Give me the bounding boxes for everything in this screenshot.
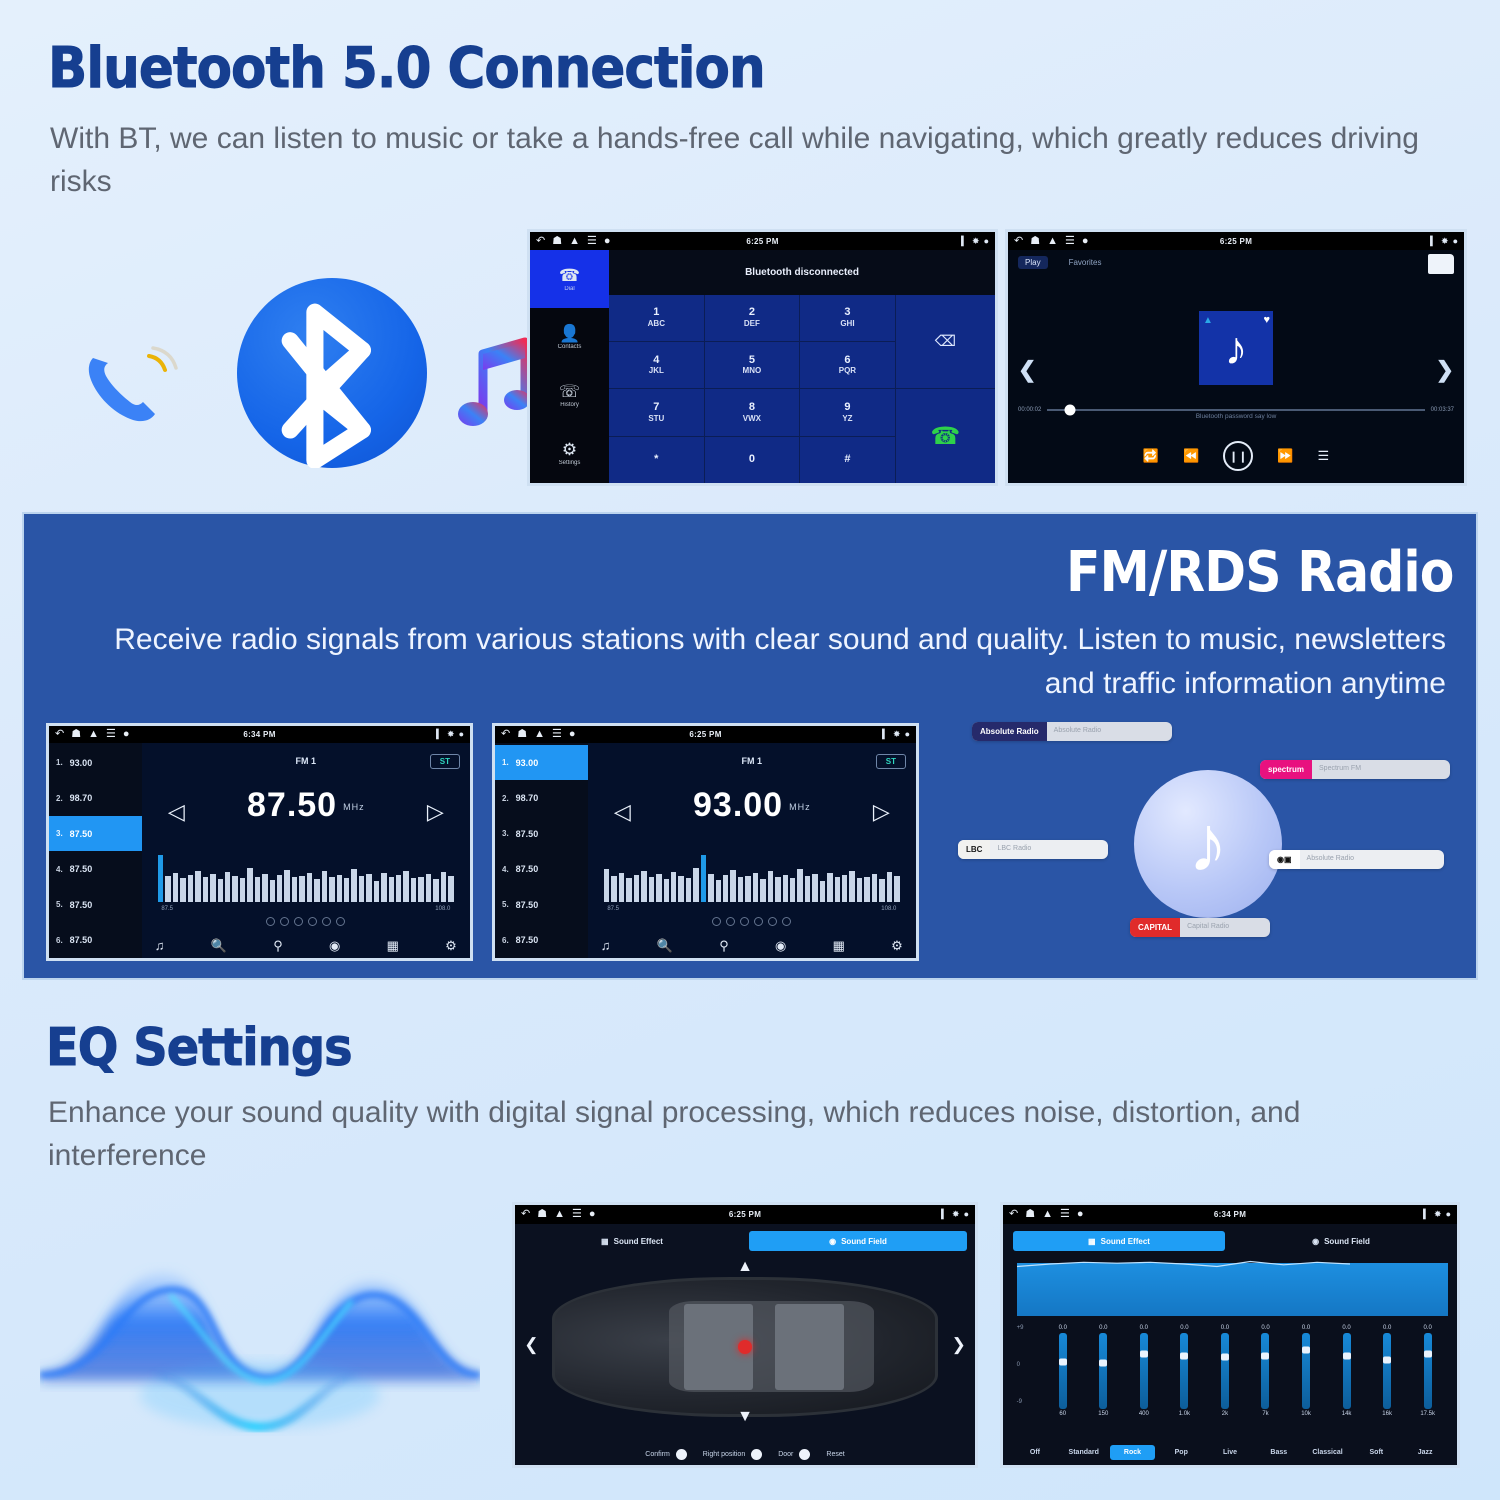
key-star[interactable]: *	[609, 437, 704, 483]
key-8[interactable]: 8VWX	[705, 389, 800, 435]
eq-band-track[interactable]	[1180, 1333, 1188, 1409]
presets-icon[interactable]: ▦	[833, 938, 845, 954]
station-logo-mark: spectrum	[1260, 760, 1312, 779]
preset-index: 1.	[56, 758, 63, 767]
frequency-tick	[299, 876, 304, 902]
key-5[interactable]: 5MNO	[705, 342, 800, 388]
preset-item[interactable]: 4.87.50	[495, 851, 588, 887]
eq-visualizer	[1017, 1263, 1448, 1316]
playback-controls[interactable]: 🔁 ⏪ ❙❙ ⏩ ☰	[1008, 441, 1464, 471]
frequency-tick	[738, 877, 743, 902]
radio-screen-2[interactable]: ↶ ☗ ▲ ☰ ● 6:25 PM ▍ ✸ ● 1.93.00 2.98.70 …	[492, 723, 919, 961]
bluetooth-section-title: Bluetooth 5.0 Connection	[48, 36, 765, 101]
preset-item[interactable]: 2.98.70	[495, 780, 588, 816]
preset-index: 2.	[502, 794, 509, 803]
sound-wave-graphic	[40, 1235, 480, 1460]
eq-band-frequency: 1.0k	[1179, 1411, 1190, 1417]
frequency-tick	[396, 875, 401, 902]
preset-item[interactable]: 5.87.50	[495, 887, 588, 923]
music-tabs[interactable]: Play Favorites	[1018, 256, 1108, 269]
eq-band[interactable]: 0.010k	[1286, 1325, 1327, 1417]
frequency-tick	[232, 876, 237, 902]
eq-preset-live[interactable]: Live	[1207, 1445, 1253, 1460]
frequency-tick	[359, 876, 364, 902]
tune-up-button[interactable]: ▷	[427, 799, 444, 825]
preset-item[interactable]: 3.87.50	[49, 816, 142, 852]
frequency-tick	[864, 877, 869, 903]
sidebar-item-contacts[interactable]: 👤 Contacts	[530, 308, 609, 366]
frequency-tick	[381, 873, 386, 902]
frequency-tick	[604, 869, 609, 902]
station-logo-mark: Absolute Radio	[972, 722, 1047, 741]
frequency-tick	[716, 880, 721, 902]
eq-preset-classical[interactable]: Classical	[1305, 1445, 1351, 1460]
page-dot[interactable]	[336, 917, 345, 926]
frequency-tick	[820, 881, 825, 902]
page-dot[interactable]	[266, 917, 275, 926]
eq-preset-soft[interactable]: Soft	[1353, 1445, 1399, 1460]
move-left-button[interactable]: ❮	[524, 1335, 538, 1355]
eq-band-knob[interactable]	[1140, 1351, 1148, 1358]
key-number: *	[654, 454, 658, 466]
frequency-tick	[426, 874, 431, 902]
eq-band-knob[interactable]	[1302, 1346, 1310, 1353]
eq-preset-bass[interactable]: Bass	[1256, 1445, 1302, 1460]
gear-icon[interactable]: ⚙	[891, 938, 903, 954]
eq-band-value: 0.0	[1180, 1325, 1188, 1331]
preset-index: 2.	[56, 794, 63, 803]
preset-item[interactable]: 1.93.00	[495, 745, 588, 781]
station-chip-capital: CAPITAL Capital Radio	[1130, 918, 1270, 937]
page-dot[interactable]	[294, 917, 303, 926]
option-door[interactable]: Door	[778, 1449, 810, 1460]
eq-band[interactable]: 0.07k	[1245, 1325, 1286, 1417]
station-chip-lbc: LBC LBC Radio	[958, 840, 1108, 859]
frequency-tick	[634, 875, 639, 902]
frequency-tick	[351, 869, 356, 902]
key-number: 8	[749, 402, 755, 414]
phone-icon: ☎	[559, 267, 580, 284]
preset-item[interactable]: 5.87.50	[49, 887, 142, 923]
frequency-tick	[433, 879, 438, 902]
eq-band-knob[interactable]	[1383, 1357, 1391, 1364]
frequency-tick	[611, 876, 616, 902]
frequency-tick	[180, 878, 185, 902]
preset-index: 5.	[502, 900, 509, 909]
eq-band-knob[interactable]	[1343, 1352, 1351, 1359]
key-hash[interactable]: #	[800, 437, 895, 483]
eq-band[interactable]: 0.017.5k	[1407, 1325, 1448, 1417]
frequency-tick	[173, 873, 178, 902]
preset-item[interactable]: 1.93.00	[49, 745, 142, 781]
station-chip-spectrum: spectrum Spectrum FM	[1260, 760, 1450, 779]
frequency-tick	[247, 868, 252, 902]
preset-list[interactable]: 1.93.00 2.98.70 3.87.50 4.87.50 5.87.50 …	[49, 743, 142, 958]
auto-scan-icon[interactable]: ⚲	[273, 938, 283, 954]
playlist-icon[interactable]: ☰	[1317, 448, 1329, 464]
radio-band-label: FM 1	[588, 756, 916, 766]
status-bar: ↶ ☗ ▲ ☰ ● 6:25 PM ▍ ✸ ●	[495, 726, 916, 743]
page-dot[interactable]	[754, 917, 763, 926]
page-dot[interactable]	[280, 917, 289, 926]
preset-frequency: 87.50	[70, 900, 93, 910]
page-dot[interactable]	[726, 917, 735, 926]
preset-index: 3.	[56, 829, 63, 838]
eq-band-knob[interactable]	[1424, 1351, 1432, 1358]
sound-field-screen[interactable]: ↶ ☗ ▲ ☰ ● 6:25 PM ▍ ✸ ● ▦ Sound Effect ◉	[512, 1202, 978, 1468]
reset-button[interactable]: Reset	[826, 1451, 844, 1458]
frequency-tick	[686, 878, 691, 902]
preset-frequency: 87.50	[70, 829, 93, 839]
seat-rear-left	[775, 1304, 843, 1349]
preset-item[interactable]: 3.87.50	[495, 816, 588, 852]
key-4[interactable]: 4JKL	[609, 342, 704, 388]
eq-band-frequency: 7k	[1262, 1411, 1268, 1417]
eq-band-value: 0.0	[1302, 1325, 1310, 1331]
car-top-view[interactable]	[552, 1277, 938, 1417]
status-bar: ↶ ☗ ▲ ☰ ● 6:25 PM ▍ ✸ ●	[515, 1205, 975, 1224]
eq-band-knob[interactable]	[1099, 1360, 1107, 1367]
radio-toolbar[interactable]: ♫ 🔍 ⚲ ◉ ▦ ⚙	[601, 938, 903, 954]
current-frequency: 87.50MHz	[142, 786, 470, 825]
eq-band[interactable]: 0.0150	[1083, 1325, 1124, 1417]
eq-band-track[interactable]	[1059, 1333, 1067, 1409]
radio-screen-1[interactable]: ↶ ☗ ▲ ☰ ● 6:34 PM ▍ ✸ ● 1.93.00 2.98.70 …	[46, 723, 473, 961]
frequency-unit: MHz	[343, 802, 365, 812]
frequency-tick	[225, 872, 230, 902]
eq-band-track[interactable]	[1140, 1333, 1148, 1409]
folder-icon[interactable]	[1428, 254, 1454, 274]
frequency-tick	[879, 879, 884, 902]
frequency-tick	[775, 877, 780, 903]
key-number: 6	[844, 355, 850, 367]
frequency-tick	[329, 877, 334, 903]
radio-band-label: FM 1	[142, 756, 470, 766]
scale-low-label: 87.5	[161, 906, 173, 912]
progress-area[interactable]: 00:00:02 00:03:37	[1018, 407, 1454, 413]
eq-band-frequency: 16k	[1382, 1411, 1392, 1417]
eq-band-sliders[interactable]: +9 0 -9 0.0600.01500.04000.01.0k0.02k0.0…	[1017, 1325, 1448, 1417]
eq-band-value: 0.0	[1424, 1325, 1432, 1331]
preset-item[interactable]: 6.87.50	[495, 923, 588, 959]
tab-sound-effect[interactable]: ▦ Sound Effect	[1013, 1231, 1225, 1251]
eq-band-track[interactable]	[1261, 1333, 1269, 1409]
axis-label-min: -9	[1017, 1399, 1043, 1405]
sidebar-item-history[interactable]: ☏ History	[530, 367, 609, 425]
tab-play[interactable]: Play	[1018, 256, 1048, 269]
auto-scan-icon[interactable]: ⚲	[719, 938, 729, 954]
frequency-tick	[418, 877, 423, 903]
tab-sound-effect[interactable]: ▦ Sound Effect	[523, 1231, 741, 1251]
play-pause-button[interactable]: ❙❙	[1223, 441, 1253, 471]
preset-frequency: 98.70	[516, 793, 539, 803]
soundfield-icon: ◉	[1312, 1237, 1319, 1246]
call-icon: ☎	[930, 422, 960, 451]
radio-station-logos: ♪ Absolute Radio Absolute Radio spectrum…	[958, 718, 1458, 968]
album-art: ▲ ♥ ♪	[1199, 311, 1273, 385]
key-6[interactable]: 6PQR	[800, 342, 895, 388]
move-down-button[interactable]: ▼	[737, 1408, 753, 1426]
scale-high-label: 108.0	[435, 906, 450, 912]
call-history-icon: ☏	[559, 383, 580, 400]
radio-icon[interactable]	[676, 1449, 687, 1460]
station-logo-mark: LBC	[958, 840, 990, 859]
tab-label: Sound Field	[841, 1237, 887, 1246]
frequency-tick	[366, 874, 371, 902]
radio-icon[interactable]	[751, 1449, 762, 1460]
eq-band[interactable]: 0.02k	[1205, 1325, 1246, 1417]
dial-keypad[interactable]: 1ABC 2DEF 3GHI ⌫ 4JKL 5MNO 6PQR 7STU 8VW…	[609, 295, 995, 483]
preset-item[interactable]: 2.98.70	[49, 780, 142, 816]
key-number: 9	[844, 402, 850, 414]
stereo-badge[interactable]: ST	[430, 754, 460, 769]
eq-band[interactable]: 0.01.0k	[1164, 1325, 1205, 1417]
page-dots[interactable]	[588, 917, 916, 926]
sound-focus-point[interactable]	[738, 1340, 752, 1354]
sound-field-options[interactable]: Confirm Right position Door Reset	[515, 1449, 975, 1460]
band-icon[interactable]: ♫	[601, 938, 611, 954]
eq-band-knob[interactable]	[1221, 1354, 1229, 1361]
frequency-tick	[783, 875, 788, 902]
frequency-tick	[314, 879, 319, 902]
frequency-tick	[389, 877, 394, 902]
option-right-position[interactable]: Right position	[703, 1449, 762, 1460]
key-letters: MNO	[743, 366, 762, 375]
repeat-icon[interactable]: 🔁	[1143, 448, 1159, 464]
radio-toolbar[interactable]: ♫ 🔍 ⚲ ◉ ▦ ⚙	[155, 938, 457, 954]
equalizer-icon: ▦	[1088, 1237, 1096, 1246]
gear-icon[interactable]: ⚙	[445, 938, 457, 954]
preset-frequency: 87.50	[516, 829, 539, 839]
page-dot[interactable]	[322, 917, 331, 926]
next-track-arrow[interactable]: ❯	[1436, 357, 1454, 383]
eq-band-track[interactable]	[1302, 1333, 1310, 1409]
frequency-tick	[812, 874, 817, 902]
key-number: 4	[653, 355, 659, 367]
progress-bar[interactable]	[1047, 409, 1424, 411]
preset-item[interactable]: 6.87.50	[49, 923, 142, 959]
frequency-tick	[374, 881, 379, 902]
preset-frequency: 87.50	[70, 864, 93, 874]
key-3[interactable]: 3GHI	[800, 295, 895, 341]
eq-band-knob[interactable]	[1059, 1358, 1067, 1365]
presets-icon[interactable]: ▦	[387, 938, 399, 954]
equalizer-screen[interactable]: ↶ ☗ ▲ ☰ ● 6:34 PM ▍ ✸ ● ▦ Sound Effect ◉	[1000, 1202, 1460, 1468]
move-up-button[interactable]: ▲	[737, 1258, 753, 1276]
frequency-tick	[723, 875, 728, 902]
tab-favorites[interactable]: Favorites	[1062, 256, 1109, 269]
key-letters: PQR	[839, 366, 856, 375]
sidebar-item-settings[interactable]: ⚙ Settings	[530, 425, 609, 483]
frequency-tick	[210, 874, 215, 902]
key-2[interactable]: 2DEF	[705, 295, 800, 341]
key-letters: VWX	[743, 414, 761, 423]
frequency-tick	[641, 871, 646, 902]
status-bar-clock: 6:25 PM	[530, 237, 995, 246]
tab-sound-field[interactable]: ◉ Sound Field	[1235, 1231, 1447, 1251]
preset-list[interactable]: 1.93.00 2.98.70 3.87.50 4.87.50 5.87.50 …	[495, 743, 588, 958]
tune-up-button[interactable]: ▷	[873, 799, 890, 825]
key-letters: STU	[648, 414, 664, 423]
search-icon[interactable]: 🔍	[657, 938, 673, 954]
page-dot[interactable]	[712, 917, 721, 926]
status-bar: ↶ ☗ ▲ ☰ ● 6:34 PM ▍ ✸ ●	[1003, 1205, 1457, 1224]
eq-band-frequency: 60	[1059, 1411, 1066, 1417]
eq-band-value: 0.0	[1221, 1325, 1229, 1331]
frequency-tick	[745, 876, 750, 902]
eq-preset-jazz[interactable]: Jazz	[1402, 1445, 1448, 1460]
status-bar: ↶ ☗ ▲ ☰ ● 6:25 PM ▍ ✸ ●	[1008, 232, 1464, 250]
scale-low-label: 87.5	[607, 906, 619, 912]
eq-band-track[interactable]	[1343, 1333, 1351, 1409]
move-right-button[interactable]: ❯	[952, 1335, 966, 1355]
key-number: 0	[749, 454, 755, 466]
eq-preset-buttons[interactable]: OffStandardRockPopLiveBassClassicalSoftJ…	[1012, 1445, 1448, 1460]
fm-section-title: FM/RDS Radio	[1067, 540, 1454, 605]
preset-frequency: 98.70	[70, 793, 93, 803]
option-confirm[interactable]: Confirm	[645, 1449, 687, 1460]
frequency-tick	[849, 871, 854, 902]
frequency-tick	[165, 876, 170, 902]
preset-frequency: 93.00	[70, 758, 93, 768]
key-letters: ABC	[648, 319, 665, 328]
eq-band-knob[interactable]	[1261, 1352, 1269, 1359]
frequency-tick	[448, 876, 453, 902]
call-button[interactable]: ☎	[896, 389, 995, 483]
preset-index: 1.	[502, 758, 509, 767]
status-bar-clock: 6:25 PM	[1008, 237, 1464, 246]
preset-frequency: 87.50	[516, 900, 539, 910]
frequency-tick	[411, 878, 416, 902]
page-dot[interactable]	[768, 917, 777, 926]
page-dot[interactable]	[782, 917, 791, 926]
page-dots[interactable]	[142, 917, 470, 926]
radio-main-area: FM 1 ST ◁ 93.00MHz ▷ 87.5 108.0 ♫	[588, 743, 916, 958]
dialer-sidebar[interactable]: ☎ Dial 👤 Contacts ☏ History ⚙ Settings	[530, 250, 609, 483]
option-label: Confirm	[645, 1451, 670, 1458]
key-letters: YZ	[842, 414, 852, 423]
progress-knob[interactable]	[1064, 405, 1075, 416]
preset-index: 6.	[502, 936, 509, 945]
radio-main-area: FM 1 ST ◁ 87.50MHz ▷ 87.5 108.0 ♫	[142, 743, 470, 958]
page-dot[interactable]	[740, 917, 749, 926]
eq-preset-off[interactable]: Off	[1012, 1445, 1058, 1460]
frequency-tick	[292, 877, 297, 902]
key-9[interactable]: 9YZ	[800, 389, 895, 435]
frequency-tick	[203, 877, 208, 902]
eq-band[interactable]: 0.014k	[1326, 1325, 1367, 1417]
frequency-tick	[678, 876, 683, 902]
eq-band-track[interactable]	[1099, 1333, 1107, 1409]
bluetooth-icon	[237, 278, 427, 468]
music-note-icon: ♪	[1188, 804, 1228, 884]
eq-band-value: 0.0	[1383, 1325, 1391, 1331]
bluetooth-glyph	[237, 278, 427, 468]
key-1[interactable]: 1ABC	[609, 295, 704, 341]
frequency-tick	[664, 879, 669, 902]
status-bar-clock: 6:25 PM	[495, 730, 916, 739]
frequency-tick	[790, 878, 795, 902]
search-icon[interactable]: 🔍	[211, 938, 227, 954]
eq-preset-rock[interactable]: Rock	[1110, 1445, 1156, 1460]
eq-band-value: 0.0	[1099, 1325, 1107, 1331]
preset-frequency: 87.50	[516, 935, 539, 945]
bluetooth-dialer-screen[interactable]: ↶ ☗ ▲ ☰ ● 6:25 PM ▍ ✸ ● ☎ Dial 👤	[527, 229, 998, 486]
eq-section-subtitle: Enhance your sound quality with digital …	[48, 1092, 1448, 1177]
bluetooth-source-icon: ▲	[1203, 315, 1213, 326]
eq-band-frequency: 10k	[1301, 1411, 1311, 1417]
status-bar-clock: 6:25 PM	[515, 1210, 975, 1219]
eq-band-value: 0.0	[1261, 1325, 1269, 1331]
frequency-tick	[649, 877, 654, 902]
eq-band-knob[interactable]	[1180, 1352, 1188, 1359]
infographic-page: Bluetooth 5.0 Connection With BT, we can…	[0, 0, 1500, 1500]
eq-band-frequency: 14k	[1342, 1411, 1352, 1417]
key-letters: GHI	[840, 319, 854, 328]
frequency-tick	[753, 873, 758, 902]
rds-icon[interactable]: ◉	[329, 938, 340, 954]
key-number: 2	[749, 307, 755, 319]
previous-track-arrow[interactable]: ❮	[1018, 357, 1036, 383]
sidebar-item-dial[interactable]: ☎ Dial	[530, 250, 609, 308]
key-number: 1	[653, 307, 659, 319]
frequency-tick	[255, 877, 260, 903]
stereo-badge[interactable]: ST	[876, 754, 906, 769]
tab-label: Sound Effect	[1101, 1237, 1150, 1246]
key-number: #	[844, 454, 850, 466]
eq-band-track[interactable]	[1383, 1333, 1391, 1409]
next-icon[interactable]: ⏩	[1277, 448, 1293, 464]
favorite-heart-icon[interactable]: ♥	[1263, 314, 1270, 326]
frequency-tick	[760, 879, 765, 902]
frequency-tick	[307, 873, 312, 902]
frequency-scale[interactable]	[158, 855, 454, 902]
frequency-tick	[797, 869, 802, 902]
previous-icon[interactable]: ⏪	[1183, 448, 1199, 464]
frequency-tick	[337, 875, 342, 902]
key-number: 3	[844, 307, 850, 319]
radio-icon[interactable]	[799, 1449, 810, 1460]
sound-tabs[interactable]: ▦ Sound Effect ◉ Sound Field	[1003, 1231, 1457, 1251]
sidebar-item-label: Dial	[564, 286, 574, 292]
rds-icon[interactable]: ◉	[775, 938, 786, 954]
sound-tabs[interactable]: ▦ Sound Effect ◉ Sound Field	[515, 1231, 975, 1251]
frequency-scale[interactable]	[604, 855, 900, 902]
eq-band-value: 0.0	[1342, 1325, 1350, 1331]
axis-label-max: +9	[1017, 1325, 1043, 1331]
eq-band-track[interactable]	[1221, 1333, 1229, 1409]
key-7[interactable]: 7STU	[609, 389, 704, 435]
backspace-button[interactable]: ⌫	[896, 295, 995, 389]
eq-band[interactable]: 0.016k	[1367, 1325, 1408, 1417]
eq-band[interactable]: 0.060	[1042, 1325, 1083, 1417]
band-icon[interactable]: ♫	[155, 938, 165, 954]
tab-sound-field[interactable]: ◉ Sound Field	[749, 1231, 967, 1251]
key-letters: JKL	[649, 366, 664, 375]
preset-frequency: 87.50	[70, 935, 93, 945]
eq-band[interactable]: 0.0400	[1124, 1325, 1165, 1417]
key-0[interactable]: 0	[705, 437, 800, 483]
page-dot[interactable]	[308, 917, 317, 926]
bluetooth-music-screen[interactable]: ↶ ☗ ▲ ☰ ● 6:25 PM ▍ ✸ ● Play Favorites ▲…	[1005, 229, 1467, 486]
eq-band-track[interactable]	[1424, 1333, 1432, 1409]
frequency-value: 93.00	[693, 786, 783, 824]
preset-item[interactable]: 4.87.50	[49, 851, 142, 887]
eq-preset-standard[interactable]: Standard	[1061, 1445, 1107, 1460]
eq-preset-pop[interactable]: Pop	[1158, 1445, 1204, 1460]
key-number: 5	[749, 355, 755, 367]
frequency-value: 87.50	[247, 786, 337, 824]
